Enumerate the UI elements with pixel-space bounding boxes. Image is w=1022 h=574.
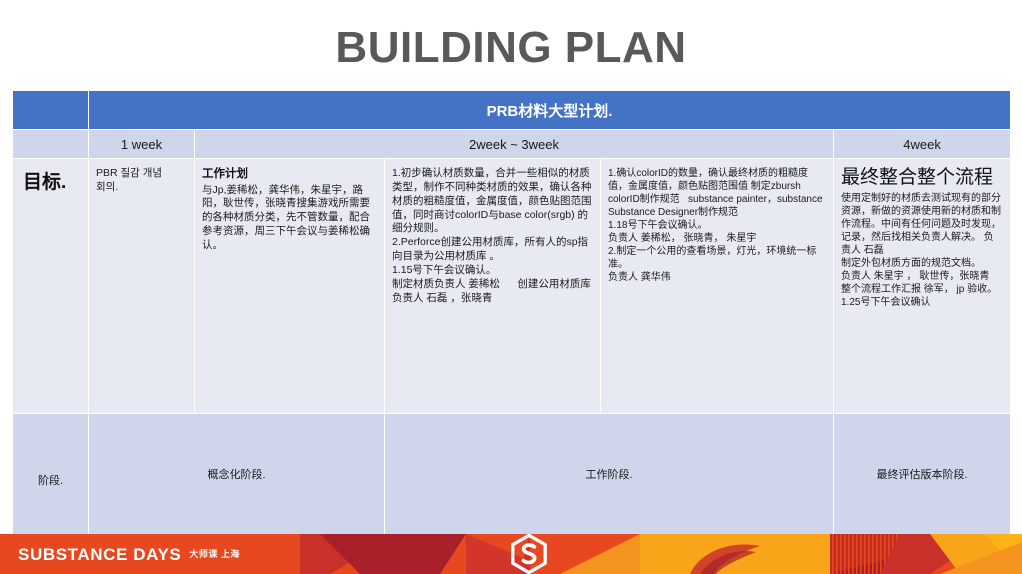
- substance-days-logo: SUBSTANCE DAYS 大师课 上海: [18, 534, 240, 574]
- phase-cell-final: 最终评估版本阶段.: [834, 414, 1011, 535]
- goal-cell-1week-text: PBR 질감 개념 회의.: [96, 167, 187, 195]
- goal-cell-workplan-heading: 工作计划: [202, 167, 377, 183]
- phase-row: 阶段. 概念化阶段. 工作阶段. 最终评估版本阶段.: [13, 414, 1011, 535]
- goal-cell-step3: 1.确认colorID的数量，确认最终材质的粗糙度值，金属度值，颜色贴图范围值 …: [601, 159, 834, 414]
- building-plan-table: PRB材料大型计划. 1 week 2week ~ 3week 4week 目标…: [12, 90, 1011, 535]
- goal-cell-workplan: 工作计划 与Jp,姜稀松，龚华伟，朱星宇，路阳，耿世传，张晓青搜集游戏所需要的各…: [195, 159, 385, 414]
- week-header-1week: 1 week: [89, 130, 195, 159]
- goal-cell-step2-text: 1.初步确认材质数量，合并一些相似的材质类型，制作不同种类材质的效果，确认各种材…: [392, 167, 593, 306]
- goal-cell-final-text: 使用定制好的材质去测试现有的部分资源，新做的资源使用新的材质和制作流程。中间有任…: [841, 192, 1003, 309]
- page-title: BUILDING PLAN: [0, 24, 1022, 72]
- goal-cell-final: 最终整合整个流程 使用定制好的材质去测试现有的部分资源，新做的资源使用新的材质和…: [834, 159, 1011, 414]
- logo-subtitle-text: 大师课 上海: [189, 550, 240, 559]
- goal-cell-step2: 1.初步确认材质数量，合并一些相似的材质类型，制作不同种类材质的效果，确认各种材…: [385, 159, 601, 414]
- goal-cell-final-heading: 最终整合整个流程: [841, 167, 1003, 190]
- goal-cell-step3-text: 1.确认colorID的数量，确认最终材质的粗糙度值，金属度值，颜色贴图范围值 …: [608, 167, 826, 284]
- table-header-row: PRB材料大型计划.: [13, 91, 1011, 130]
- phase-cell-work: 工作阶段.: [385, 414, 834, 535]
- phase-row-label: 阶段.: [13, 414, 89, 535]
- week-corner-cell: [13, 130, 89, 159]
- goal-cell-1week: PBR 질감 개념 회의.: [89, 159, 195, 414]
- plan-title-header: PRB材料大型计划.: [89, 91, 1011, 130]
- goal-row: 目标. PBR 질감 개념 회의. 工作计划 与Jp,姜稀松，龚华伟，朱星宇，路…: [13, 159, 1011, 414]
- week-header-4week: 4week: [834, 130, 1011, 159]
- substance-hex-s-icon: [18, 534, 1022, 574]
- phase-cell-concept: 概念化阶段.: [89, 414, 385, 535]
- week-header-2to3week: 2week ~ 3week: [195, 130, 834, 159]
- goal-cell-workplan-text: 与Jp,姜稀松，龚华伟，朱星宇，路阳，耿世传，张晓青搜集游戏所需要的各种材质分类…: [202, 184, 377, 253]
- header-corner-cell: [13, 91, 89, 130]
- goal-row-label: 目标.: [13, 159, 89, 414]
- footer-banner: SUBSTANCE DAYS 大师课 上海: [0, 534, 1022, 574]
- week-header-row: 1 week 2week ~ 3week 4week: [13, 130, 1011, 159]
